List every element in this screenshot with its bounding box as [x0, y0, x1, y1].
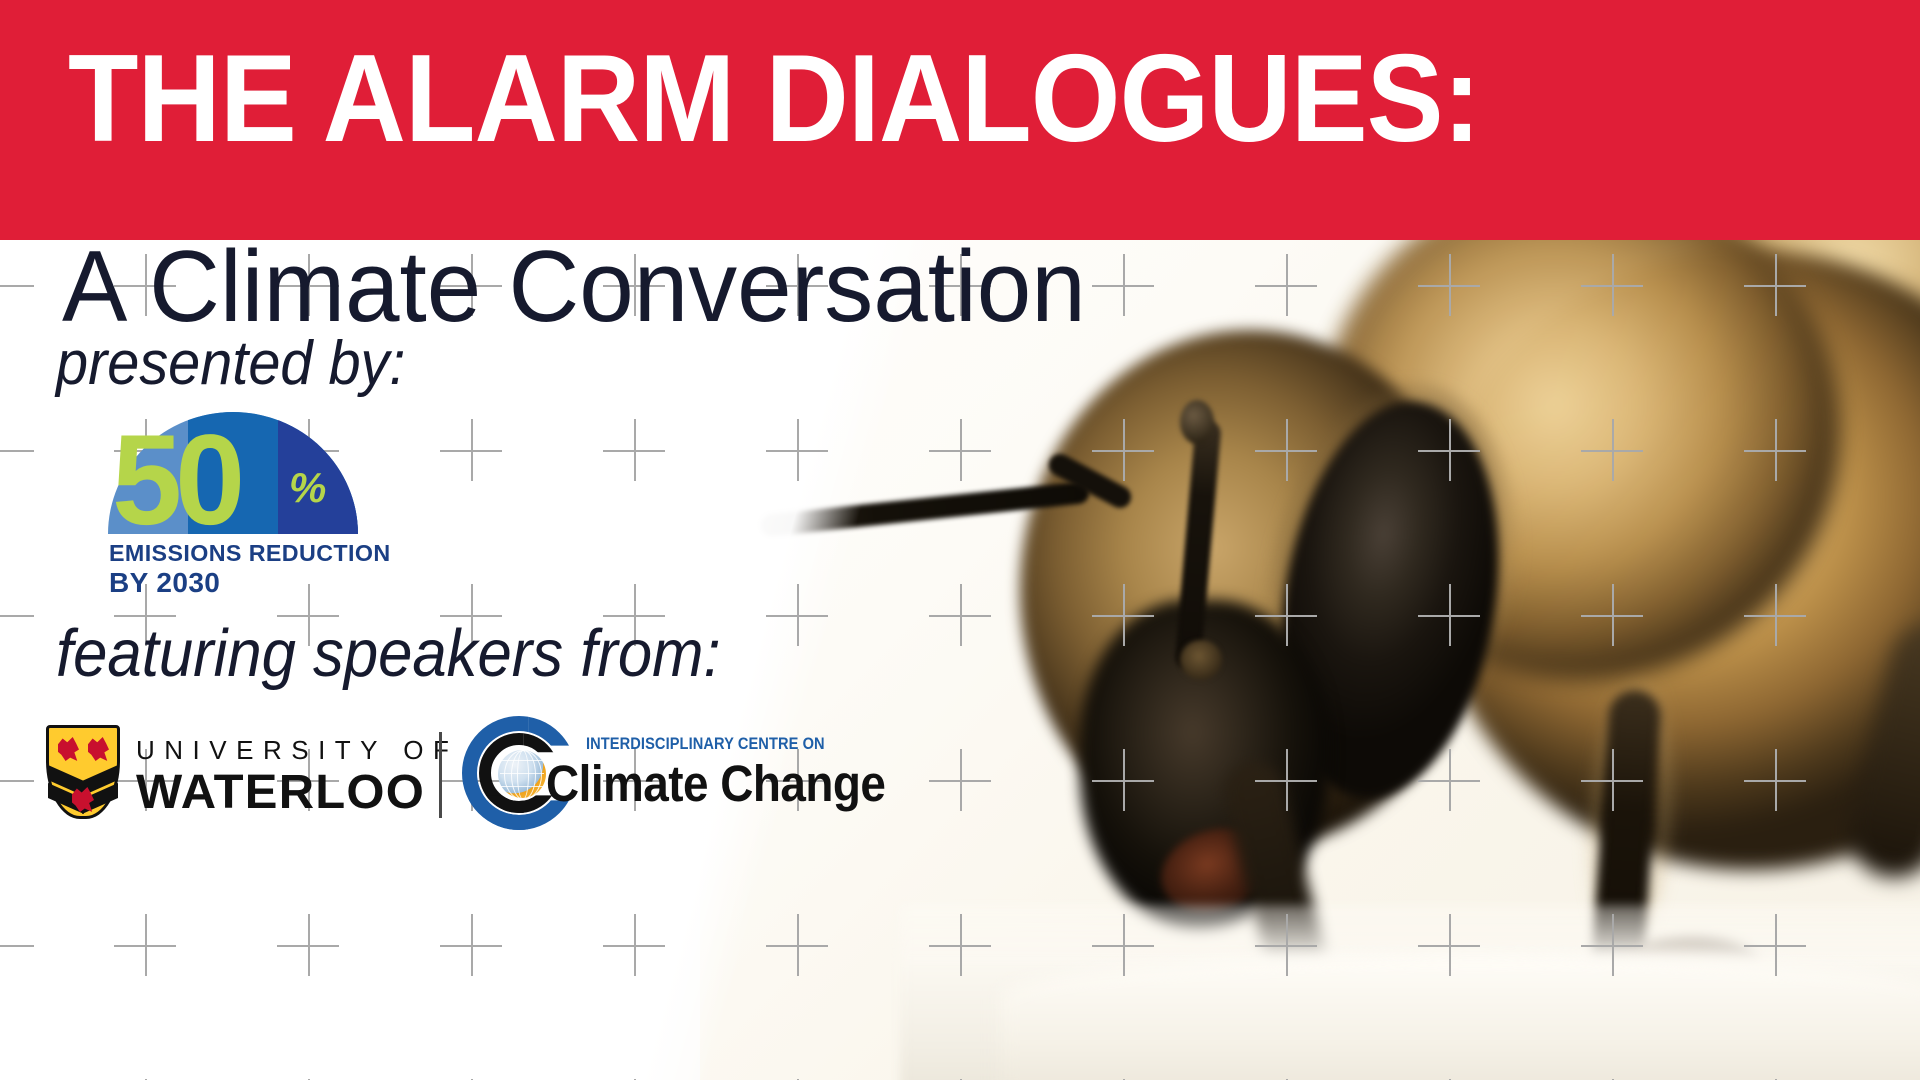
- waterloo-wordmark-line1: UNIVERSITY OF: [136, 735, 458, 766]
- poster-canvas: THE ALARM DIALOGUES: A Climate Conversat…: [0, 0, 1920, 1080]
- globe-parallel: [500, 760, 544, 761]
- waterloo-wordmark-line2: WATERLOO: [136, 765, 425, 820]
- iccc-wordmark-line2: Climate Change: [546, 754, 885, 813]
- page-title: THE ALARM DIALOGUES:: [68, 37, 1480, 161]
- shield-chevron-1: [50, 765, 116, 780]
- presented-by-label: presented by:: [56, 333, 405, 395]
- logo-tagline-line2: BY 2030: [109, 567, 220, 599]
- iccc-wordmark-line1: INTERDISCIPLINARY CENTRE ON: [586, 734, 825, 754]
- globe-parallel: [500, 786, 544, 787]
- logo-number: 50: [112, 426, 317, 533]
- presenter-logo: 50 % EMISSIONS REDUCTION BY 2030: [108, 412, 358, 587]
- globe-parallel: [500, 773, 544, 774]
- globe-meridian: [504, 750, 542, 800]
- logo-percent-symbol: %: [289, 464, 326, 512]
- logo-dome: 50 %: [108, 412, 358, 534]
- subtitle: A Climate Conversation: [62, 237, 1086, 338]
- logo-divider: [439, 732, 442, 818]
- featuring-speakers-label: featuring speakers from:: [56, 620, 721, 687]
- waterloo-shield-icon: [46, 725, 120, 819]
- logo-tagline-line1: EMISSIONS REDUCTION: [109, 540, 391, 567]
- iccc-globe-icon: [498, 750, 546, 798]
- header-banner: THE ALARM DIALOGUES:: [0, 0, 1920, 240]
- left-content-column: A Climate Conversation presented by: 50 …: [0, 240, 960, 1080]
- partner-logos: UNIVERSITY OF WATERLOO INTERDISCIPLINARY…: [42, 718, 782, 858]
- iccc-logo: INTERDISCIPLINARY CENTRE ON Climate Chan…: [460, 710, 780, 832]
